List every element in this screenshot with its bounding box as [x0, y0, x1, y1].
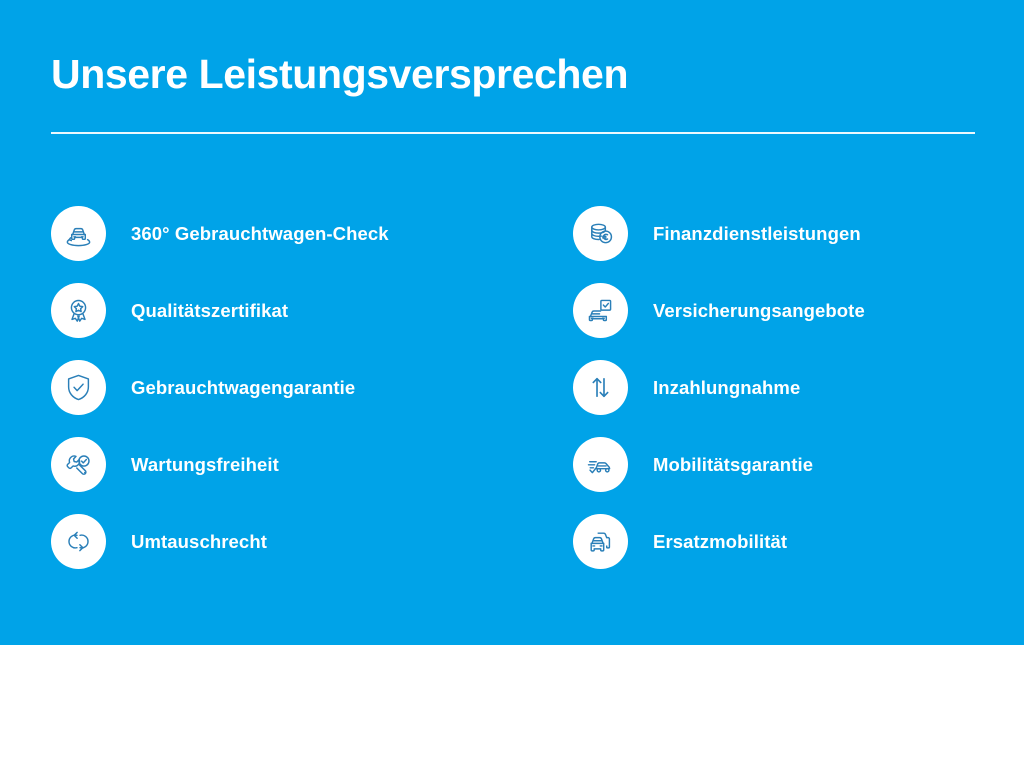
feature-item-mobilitaetsgarantie[interactable]: Mobilitätsgarantie [573, 426, 1024, 503]
feature-column-left: 360° Gebrauchtwagen-Check Qualitätszerti… [0, 195, 512, 580]
hero-panel: Unsere Leistungsversprechen [0, 0, 1024, 645]
title-divider [51, 132, 975, 134]
feature-item-gebrauchtwagen-check[interactable]: 360° Gebrauchtwagen-Check [51, 195, 512, 272]
feature-column-right: Finanzdienstleistungen Versicheru [512, 195, 1024, 580]
feature-label: Ersatzmobilität [653, 531, 787, 553]
car-insurance-document-icon [573, 283, 628, 338]
feature-item-qualitaetszertifikat[interactable]: Qualitätszertifikat [51, 272, 512, 349]
feature-label: Inzahlungnahme [653, 377, 800, 399]
feature-label: 360° Gebrauchtwagen-Check [131, 223, 389, 245]
promise-poster: Unsere Leistungsversprechen [0, 0, 1024, 768]
up-down-arrows-icon [573, 360, 628, 415]
page-title: Unsere Leistungsversprechen [51, 52, 628, 98]
feature-item-gebrauchtwagengarantie[interactable]: Gebrauchtwagengarantie [51, 349, 512, 426]
two-cars-icon [573, 514, 628, 569]
footer-bar: Hülpert Planetenfeldstraße [0, 645, 1024, 768]
feature-label: Gebrauchtwagengarantie [131, 377, 355, 399]
coins-euro-icon [573, 206, 628, 261]
feature-item-wartungsfreiheit[interactable]: Wartungsfreiheit [51, 426, 512, 503]
feature-label: Wartungsfreiheit [131, 454, 279, 476]
car-motion-icon [573, 437, 628, 492]
award-medal-icon [51, 283, 106, 338]
feature-item-finanzdienstleistungen[interactable]: Finanzdienstleistungen [573, 195, 1024, 272]
exchange-arrows-icon [51, 514, 106, 569]
feature-label: Finanzdienstleistungen [653, 223, 861, 245]
feature-label: Versicherungsangebote [653, 300, 865, 322]
feature-label: Umtauschrecht [131, 531, 267, 553]
feature-item-inzahlungnahme[interactable]: Inzahlungnahme [573, 349, 1024, 426]
wrench-check-icon [51, 437, 106, 492]
feature-item-umtauschrecht[interactable]: Umtauschrecht [51, 503, 512, 580]
feature-label: Qualitätszertifikat [131, 300, 288, 322]
feature-grid: 360° Gebrauchtwagen-Check Qualitätszerti… [0, 195, 1024, 580]
feature-item-ersatzmobilitaet[interactable]: Ersatzmobilität [573, 503, 1024, 580]
shield-check-icon [51, 360, 106, 415]
feature-label: Mobilitätsgarantie [653, 454, 813, 476]
car-360-check-icon [51, 206, 106, 261]
feature-item-versicherungsangebote[interactable]: Versicherungsangebote [573, 272, 1024, 349]
